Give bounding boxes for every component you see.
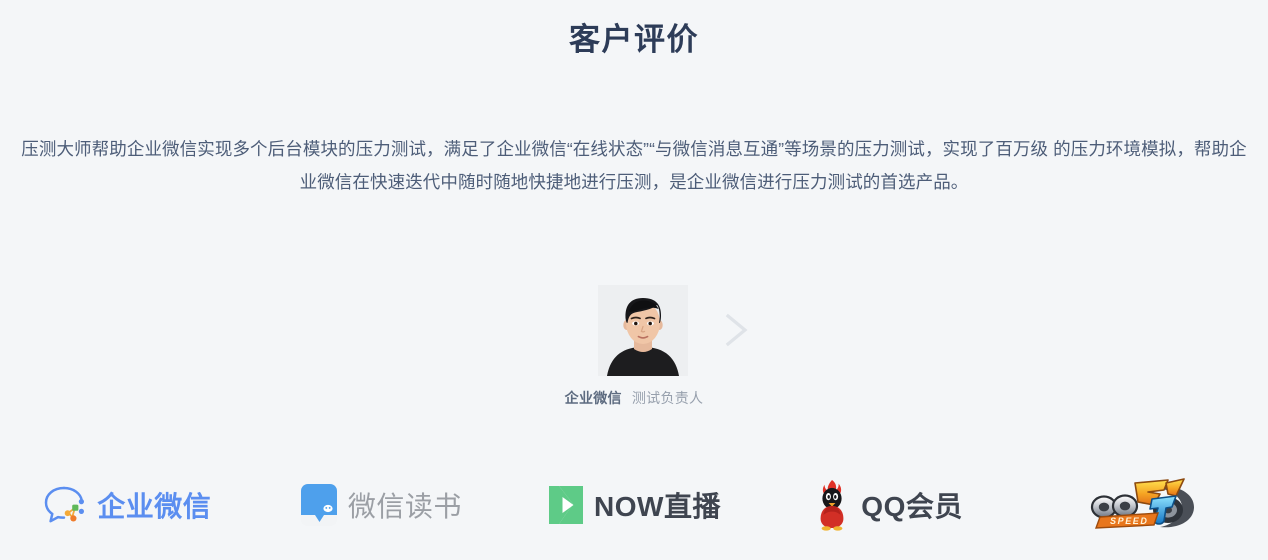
logo-label-weread: 微信读书 xyxy=(348,493,462,521)
logo-item-wecom[interactable]: 企业微信 xyxy=(0,472,254,542)
logo-label-wecom: 企业微信 xyxy=(97,493,211,521)
chevron-right-icon[interactable] xyxy=(719,308,753,352)
wecom-bubble-icon xyxy=(42,484,88,531)
qq-speed-logo-icon: SPEED xyxy=(1080,477,1202,538)
person-role: 测试负责人 xyxy=(632,390,704,406)
logo-item-qqvip[interactable]: QQ会员 xyxy=(761,472,1015,542)
testimonial-quote-line-1: 压测大师帮助企业微信实现多个后台模块的压力测试，满足了企业微信“在线状态”“与微… xyxy=(21,139,1048,159)
person-company: 企业微信 xyxy=(565,390,622,406)
avatar-photo xyxy=(598,285,688,376)
logo-label-now: NOW直播 xyxy=(594,493,721,521)
svg-text:SPEED: SPEED xyxy=(1110,516,1149,526)
testimonial-quote: 压测大师帮助企业微信实现多个后台模块的压力测试，满足了企业微信“在线状态”“与微… xyxy=(18,133,1250,199)
testimonial-person-block: 企业微信测试负责人 xyxy=(0,283,1268,413)
weread-book-icon xyxy=(299,482,339,533)
partner-logo-row: 企业微信 微信读书 xyxy=(0,472,1268,542)
logo-item-qqspeed[interactable]: SPEED xyxy=(1014,472,1268,542)
now-live-play-icon xyxy=(547,484,585,531)
logo-label-qqvip: QQ会员 xyxy=(861,493,963,521)
avatar xyxy=(598,285,688,376)
page-title: 客户评价 xyxy=(0,18,1268,62)
qq-penguin-icon xyxy=(812,479,852,536)
customer-testimonial-section: 客户评价 压测大师帮助企业微信实现多个后台模块的压力测试，满足了企业微信“在线状… xyxy=(0,0,1268,560)
logo-item-now[interactable]: NOW直播 xyxy=(507,472,761,542)
person-caption: 企业微信测试负责人 xyxy=(0,388,1268,408)
logo-item-weread[interactable]: 微信读书 xyxy=(254,472,508,542)
